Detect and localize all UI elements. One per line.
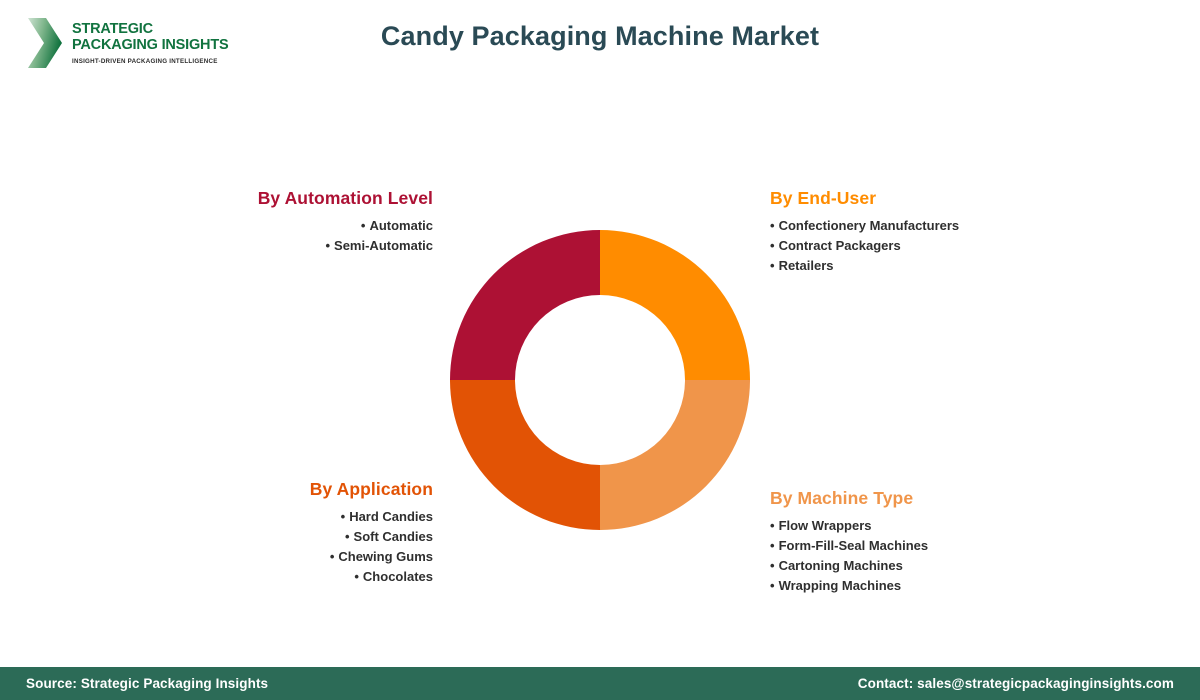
segment-list-machine-type: •Flow Wrappers •Form-Fill-Seal Machines … <box>770 516 1090 596</box>
list-item: •Hard Candies <box>190 507 433 527</box>
list-item-label: Confectionery Manufacturers <box>779 218 960 233</box>
list-item-label: Chewing Gums <box>338 549 433 564</box>
page-title: Candy Packaging Machine Market <box>0 21 1200 52</box>
bullet-icon: • <box>770 518 775 533</box>
list-item: •Contract Packagers <box>770 236 1090 256</box>
bullet-icon: • <box>770 538 775 553</box>
list-item: •Chocolates <box>190 567 433 587</box>
segment-machine-type: By Machine Type •Flow Wrappers •Form-Fil… <box>770 488 1090 596</box>
list-item-label: Hard Candies <box>349 509 433 524</box>
segment-heading-machine-type: By Machine Type <box>770 488 1090 509</box>
list-item: •Flow Wrappers <box>770 516 1090 536</box>
list-item: •Wrapping Machines <box>770 576 1090 596</box>
bullet-icon: • <box>770 578 775 593</box>
donut-slice-application <box>450 380 600 530</box>
list-item-label: Flow Wrappers <box>779 518 872 533</box>
list-item: •Automatic <box>155 216 433 236</box>
segment-list-end-user: •Confectionery Manufacturers •Contract P… <box>770 216 1090 276</box>
donut-chart-svg <box>450 230 750 530</box>
bullet-icon: • <box>330 549 335 564</box>
list-item-label: Chocolates <box>363 569 433 584</box>
segment-heading-application: By Application <box>190 479 433 500</box>
list-item: •Cartoning Machines <box>770 556 1090 576</box>
list-item: •Form-Fill-Seal Machines <box>770 536 1090 556</box>
footer-contact: Contact: sales@strategicpackaginginsight… <box>858 676 1174 691</box>
list-item: •Chewing Gums <box>190 547 433 567</box>
bullet-icon: • <box>325 238 330 253</box>
donut-slice-automation-level <box>450 230 600 380</box>
bullet-icon: • <box>345 529 350 544</box>
bullet-icon: • <box>354 569 359 584</box>
donut-chart <box>450 230 750 530</box>
list-item-label: Retailers <box>779 258 834 273</box>
list-item-label: Form-Fill-Seal Machines <box>779 538 929 553</box>
segment-automation-level: By Automation Level •Automatic •Semi-Aut… <box>155 188 433 256</box>
footer-bar: Source: Strategic Packaging Insights Con… <box>0 667 1200 700</box>
segment-list-automation-level: •Automatic •Semi-Automatic <box>155 216 433 256</box>
logo-tagline: INSIGHT-DRIVEN PACKAGING INTELLIGENCE <box>72 59 228 65</box>
list-item: •Soft Candies <box>190 527 433 547</box>
segment-list-application: •Hard Candies •Soft Candies •Chewing Gum… <box>190 507 433 587</box>
bullet-icon: • <box>770 258 775 273</box>
bullet-icon: • <box>361 218 366 233</box>
list-item-label: Cartoning Machines <box>779 558 903 573</box>
bullet-icon: • <box>770 558 775 573</box>
segment-heading-automation-level: By Automation Level <box>155 188 433 209</box>
bullet-icon: • <box>341 509 346 524</box>
list-item: •Confectionery Manufacturers <box>770 216 1090 236</box>
donut-slice-end-user <box>600 230 750 380</box>
donut-slice-machine-type <box>600 380 750 530</box>
segment-end-user: By End-User •Confectionery Manufacturers… <box>770 188 1090 276</box>
bullet-icon: • <box>770 238 775 253</box>
list-item: •Retailers <box>770 256 1090 276</box>
list-item-label: Semi-Automatic <box>334 238 433 253</box>
bullet-icon: • <box>770 218 775 233</box>
segment-application: By Application •Hard Candies •Soft Candi… <box>190 479 433 587</box>
list-item-label: Soft Candies <box>354 529 433 544</box>
list-item-label: Wrapping Machines <box>779 578 902 593</box>
footer-source: Source: Strategic Packaging Insights <box>26 676 268 691</box>
list-item-label: Automatic <box>369 218 433 233</box>
list-item: •Semi-Automatic <box>155 236 433 256</box>
list-item-label: Contract Packagers <box>779 238 901 253</box>
segment-heading-end-user: By End-User <box>770 188 1090 209</box>
